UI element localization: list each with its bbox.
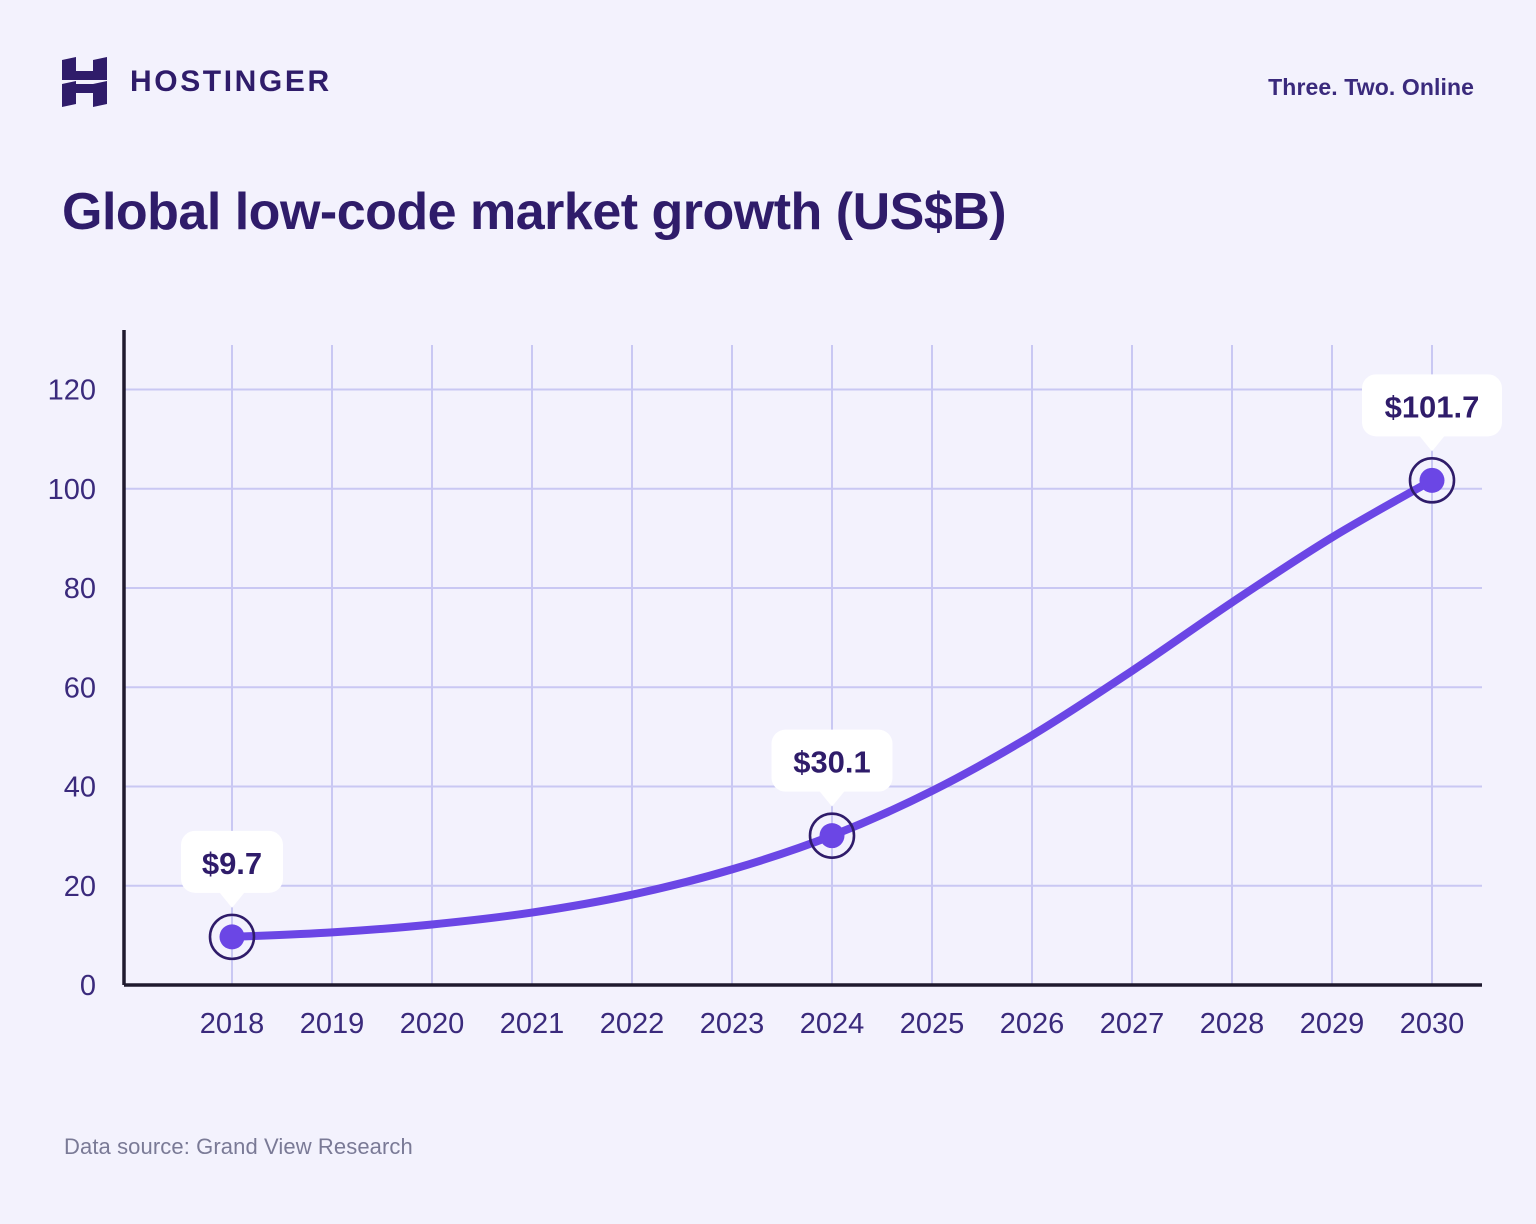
x-tick-label: 2019 xyxy=(300,1008,365,1040)
y-tick-label: 100 xyxy=(48,474,96,506)
y-tick-label: 40 xyxy=(64,772,96,804)
hostinger-h-mark-icon xyxy=(62,57,108,107)
callout-tail-icon xyxy=(219,892,245,908)
data-point-dot[interactable] xyxy=(820,823,845,848)
x-axis-ticks: 2018201920202021202220232024202520262027… xyxy=(200,1008,1465,1040)
header: HOSTINGER Three. Two. Online xyxy=(0,0,1536,160)
x-tick-label: 2029 xyxy=(1300,1008,1365,1040)
chart-gridlines xyxy=(124,345,1482,985)
chart-container: 020406080100120 201820192020202120222023… xyxy=(0,300,1536,1080)
x-tick-label: 2028 xyxy=(1200,1008,1265,1040)
data-point-dot[interactable] xyxy=(220,924,245,949)
callout-value: $101.7 xyxy=(1385,389,1480,424)
callout-value: $30.1 xyxy=(793,745,871,780)
x-tick-label: 2023 xyxy=(700,1008,765,1040)
brand-name: HOSTINGER xyxy=(130,67,332,97)
data-point-dot[interactable] xyxy=(1420,468,1445,493)
y-tick-label: 120 xyxy=(48,375,96,407)
infographic-page: HOSTINGER Three. Two. Online Global low-… xyxy=(0,0,1536,1224)
y-axis-ticks: 020406080100120 xyxy=(48,375,96,1002)
x-tick-label: 2024 xyxy=(800,1008,865,1040)
x-tick-label: 2030 xyxy=(1400,1008,1465,1040)
callout-tail-icon xyxy=(1419,435,1445,451)
page-title: Global low-code market growth (US$B) xyxy=(62,182,1006,243)
x-tick-label: 2020 xyxy=(400,1008,465,1040)
x-tick-label: 2025 xyxy=(900,1008,965,1040)
x-tick-label: 2022 xyxy=(600,1008,665,1040)
x-tick-label: 2026 xyxy=(1000,1008,1065,1040)
data-label-callout: $30.1 xyxy=(772,730,893,807)
y-tick-label: 80 xyxy=(64,573,96,605)
data-label-callout: $9.7 xyxy=(181,831,283,908)
callout-value: $9.7 xyxy=(202,846,262,881)
callout-tail-icon xyxy=(819,791,845,807)
brand-tagline: Three. Two. Online xyxy=(1268,74,1474,101)
brand-lockup: HOSTINGER xyxy=(62,57,332,107)
y-tick-label: 60 xyxy=(64,672,96,704)
y-tick-label: 0 xyxy=(80,970,96,1002)
line-chart: 020406080100120 201820192020202120222023… xyxy=(0,300,1536,1080)
y-tick-label: 20 xyxy=(64,871,96,903)
x-tick-label: 2027 xyxy=(1100,1008,1165,1040)
x-tick-label: 2018 xyxy=(200,1008,265,1040)
x-tick-label: 2021 xyxy=(500,1008,565,1040)
data-source-note: Data source: Grand View Research xyxy=(64,1134,413,1160)
data-label-callout: $101.7 xyxy=(1362,374,1502,451)
